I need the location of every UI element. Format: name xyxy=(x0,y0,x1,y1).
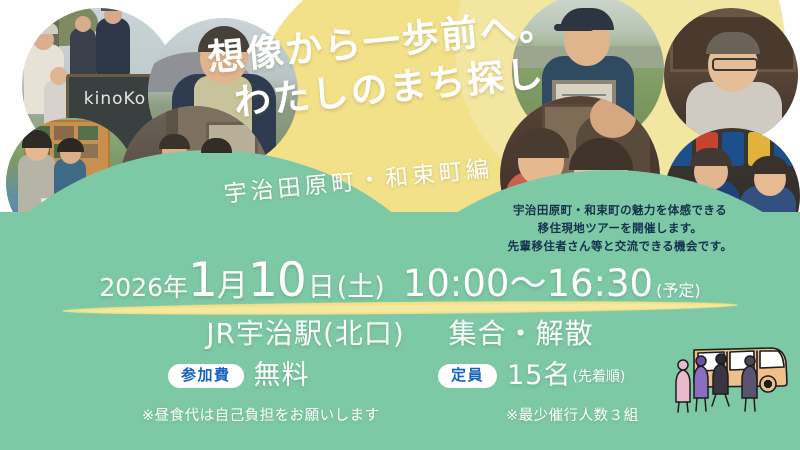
status-badge-fee: 参加費 xyxy=(168,364,244,388)
status-badge-capacity: 定員 xyxy=(438,364,497,388)
description-line-1: 宇治田原町・和束町の魅力を体感できる xyxy=(460,202,780,220)
photo-smiling-shopkeeper xyxy=(664,8,798,142)
capacity-value: 15名 xyxy=(507,362,571,389)
meeting-action: 集合・解散 xyxy=(449,317,594,350)
note-minimum-groups: ※最少催行人数３組 xyxy=(506,404,639,425)
meeting-station: JR宇治駅(北口) xyxy=(206,317,405,350)
van-icon xyxy=(668,336,794,422)
van-illustration xyxy=(668,336,794,422)
date-month-unit: 月 xyxy=(217,260,248,305)
event-poster: kinoKo 田舎ぐらしナビゲーター 移住相談窓口 xyxy=(0,0,800,450)
date-day-number: 10 xyxy=(248,253,306,308)
description-line-2: 移住現地ツアーを開催します。 xyxy=(460,220,780,238)
note-lunch-fee: ※昼食代は自己負担をお願いします xyxy=(142,404,380,425)
capacity-group: 定員 15名 (先着順) xyxy=(438,362,625,389)
event-time-note: (予定) xyxy=(656,277,701,301)
date-day-unit: 日 xyxy=(308,265,335,304)
capacity-suffix: (先着順) xyxy=(572,366,625,386)
date-year: 2026年 xyxy=(99,268,188,304)
date-weekday: (土) xyxy=(337,265,385,304)
date-month-number: 1 xyxy=(188,253,217,308)
event-description: 宇治田原町・和束町の魅力を体感できる 移住現地ツアーを開催します。 先輩移住者さ… xyxy=(460,202,780,255)
fee-group: 参加費 無料 xyxy=(168,362,310,389)
fee-value: 無料 xyxy=(254,362,310,389)
event-date-row: 2026年 1 月 10 日 (土) 10:00〜16:30 (予定) xyxy=(0,253,800,305)
event-time: 10:00〜16:30 xyxy=(403,253,653,307)
